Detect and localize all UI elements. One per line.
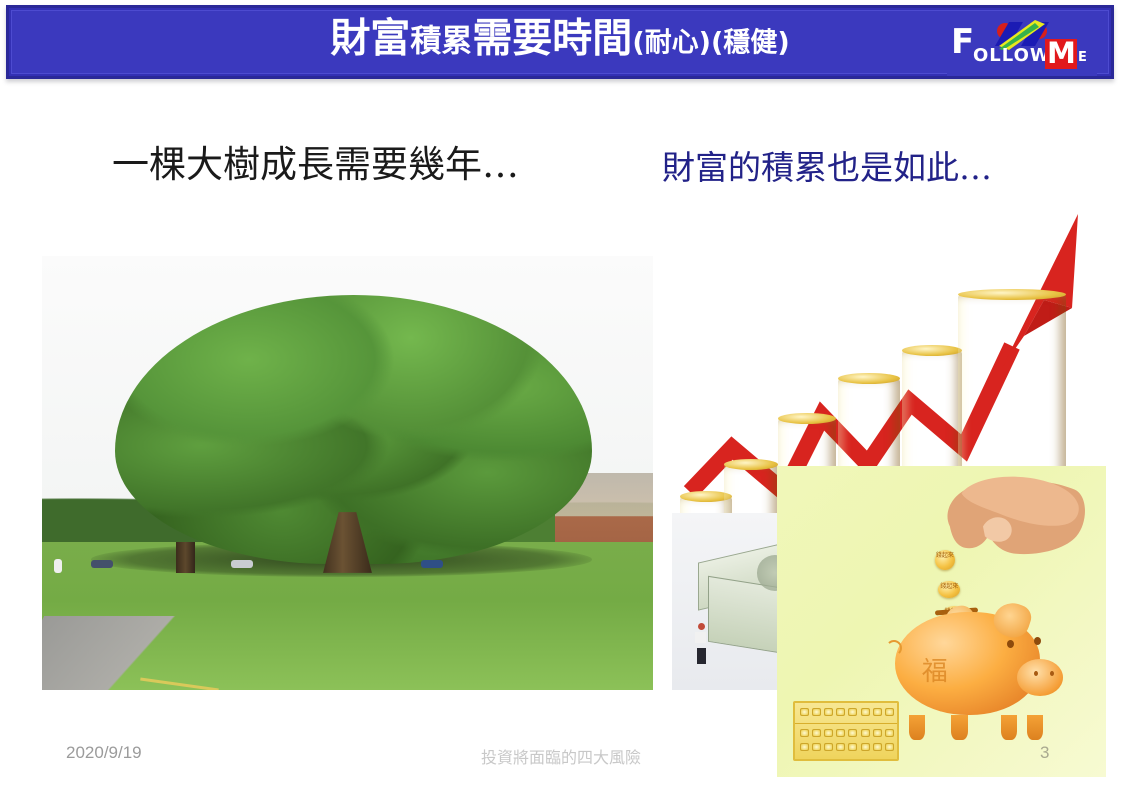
piggy-fu-character: 福 — [922, 659, 948, 685]
parked-car — [91, 560, 113, 568]
piggy-snout — [1017, 659, 1063, 696]
piggy-bank-picture: 錢起來 錢起來 錢起來 福 — [777, 466, 1106, 777]
miniature-figure-head — [698, 623, 705, 630]
title-part-2: 積累 — [410, 24, 472, 60]
logo-letter-f: F — [951, 25, 974, 59]
slide-title-bar: 財富積累需要時間(耐心)(穩健) F OLLOW M E — [6, 5, 1114, 79]
title-part-1: 財富 — [330, 16, 410, 62]
logo-letter-m-block: M — [1045, 39, 1077, 69]
parked-car — [421, 560, 443, 568]
piggy-nostril — [1034, 671, 1038, 676]
headline-left: 一棵大樹成長需要幾年… — [112, 145, 519, 185]
tree-photo — [42, 256, 653, 690]
piggy-leg — [951, 715, 967, 740]
footer-page-number: 3 — [1040, 743, 1049, 763]
logo-letter-e: E — [1078, 51, 1087, 64]
piggy-eye — [1034, 637, 1041, 645]
title-part-3: 需要時間 — [472, 16, 632, 62]
piggy-tail — [886, 640, 902, 656]
miniature-figure-legs — [697, 648, 706, 664]
piggy-leg — [1001, 715, 1017, 740]
piggy-leg — [1027, 715, 1043, 740]
parked-car — [231, 560, 253, 568]
hand-icon — [928, 472, 1093, 584]
miniature-figure-body — [695, 632, 706, 643]
logo-letter-m: M — [1047, 38, 1076, 69]
page-title: 財富積累需要時間(耐心)(穩健) — [9, 19, 1111, 64]
piggy-leg — [909, 715, 925, 740]
falling-coin: 錢起來 — [938, 581, 960, 598]
followme-logo: F OLLOW M E — [947, 19, 1097, 76]
person-on-lawn — [54, 559, 62, 573]
headline-right: 財富的積累也是如此… — [662, 150, 992, 186]
falling-coin: 錢起來 — [935, 550, 955, 570]
secondary-tree-trunk — [176, 542, 194, 572]
logo-letters-ollow: OLLOW — [973, 47, 1051, 65]
title-part-4: (耐心)(穩健) — [632, 28, 789, 59]
footer-subject: 投資將面臨的四大風險 — [0, 744, 1122, 768]
